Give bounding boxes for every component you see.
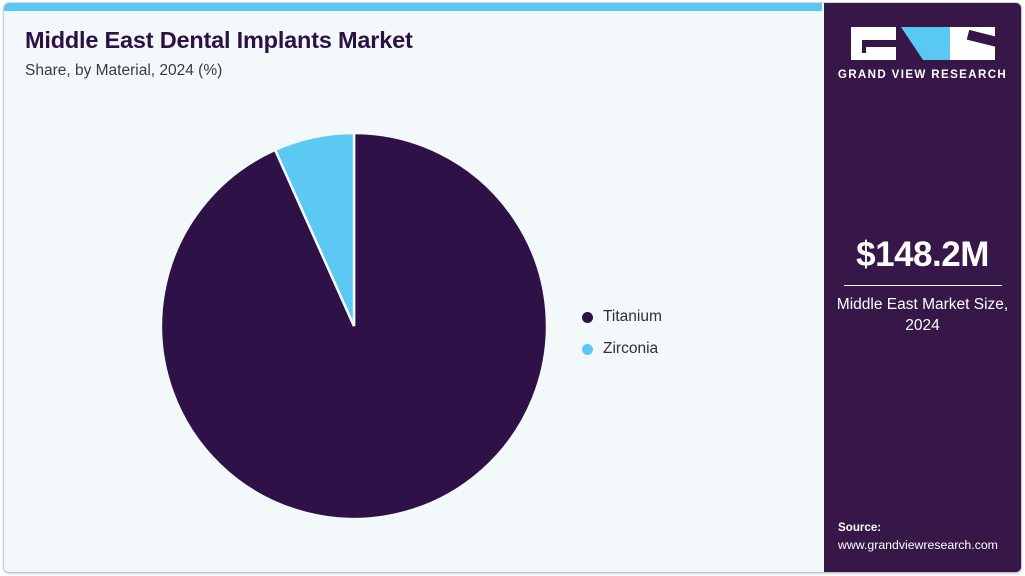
page-title: Middle East Dental Implants Market: [25, 27, 785, 55]
pie-svg: [160, 132, 548, 520]
pie-chart: [160, 132, 548, 520]
brand-sidebar: GRAND VIEW RESEARCH $148.2M Middle East …: [824, 3, 1021, 572]
stat-value: $148.2M: [824, 237, 1021, 274]
chart-subtitle: Share, by Material, 2024 (%): [25, 62, 785, 81]
brand-logo: GRAND VIEW RESEARCH: [824, 27, 1021, 81]
logo-marks: [851, 27, 995, 60]
market-size-stat: $148.2M Middle East Market Size, 2024: [824, 237, 1021, 336]
source-label: Source:: [838, 519, 1021, 536]
legend-swatch-titanium: [582, 312, 593, 323]
stat-divider: [844, 285, 1002, 286]
source-url[interactable]: www.grandviewresearch.com: [838, 537, 1021, 554]
chart-header: Middle East Dental Implants Market Share…: [25, 27, 785, 80]
chart-card: Middle East Dental Implants Market Share…: [4, 3, 1021, 572]
legend-item-zirconia[interactable]: Zirconia: [582, 333, 662, 365]
logo-wordmark: GRAND VIEW RESEARCH: [824, 68, 1021, 81]
chart-legend: Titanium Zirconia: [582, 301, 662, 365]
top-accent-bar: [4, 3, 822, 11]
legend-item-titanium[interactable]: Titanium: [582, 301, 662, 333]
plot-area: Titanium Zirconia: [4, 99, 822, 572]
stat-caption: Middle East Market Size, 2024: [824, 295, 1021, 337]
pie-slices: [161, 133, 547, 519]
logo-letter-g-icon: [851, 27, 896, 60]
logo-letter-r-icon: [950, 27, 995, 60]
legend-label-titanium: Titanium: [603, 308, 662, 326]
source-block: Source: www.grandviewresearch.com: [838, 519, 1021, 554]
legend-label-zirconia: Zirconia: [603, 340, 658, 358]
legend-swatch-zirconia: [582, 344, 593, 355]
